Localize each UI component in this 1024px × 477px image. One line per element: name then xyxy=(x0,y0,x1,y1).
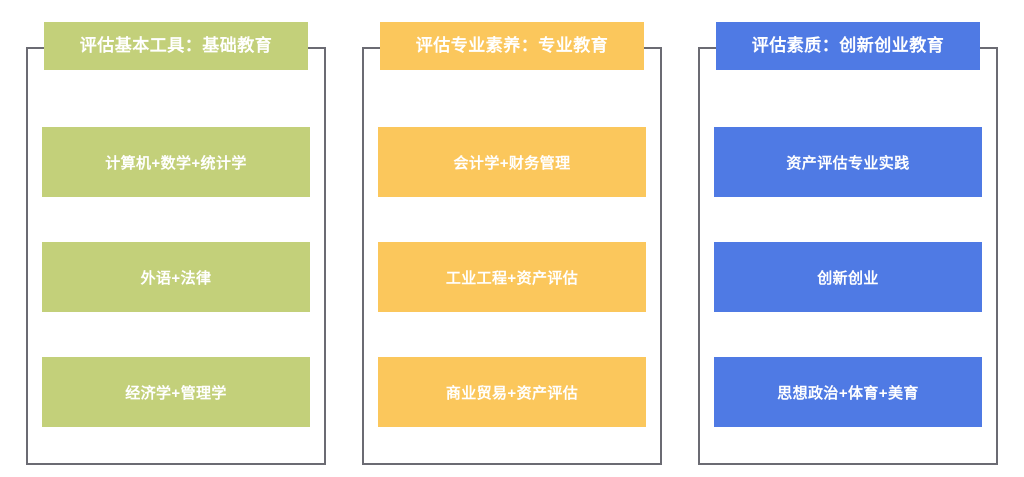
column-header-quality-innovation: 评估素质：创新创业教育 xyxy=(716,22,980,70)
item-box[interactable]: 会计学+财务管理 xyxy=(378,127,646,197)
item-box[interactable]: 资产评估专业实践 xyxy=(714,127,982,197)
column-header-basic-tools: 评估基本工具：基础教育 xyxy=(44,22,308,70)
item-box[interactable]: 思想政治+体育+美育 xyxy=(714,357,982,427)
item-box[interactable]: 外语+法律 xyxy=(42,242,310,312)
item-box[interactable]: 工业工程+资产评估 xyxy=(378,242,646,312)
diagram-canvas: 评估基本工具：基础教育 计算机+数学+统计学 外语+法律 经济学+管理学 评估专… xyxy=(0,0,1024,477)
item-box[interactable]: 经济学+管理学 xyxy=(42,357,310,427)
column-items-quality-innovation: 资产评估专业实践 创新创业 思想政治+体育+美育 xyxy=(698,70,998,466)
column-header-professional-competence: 评估专业素养：专业教育 xyxy=(380,22,644,70)
item-box[interactable]: 商业贸易+资产评估 xyxy=(378,357,646,427)
column-items-basic-tools: 计算机+数学+统计学 外语+法律 经济学+管理学 xyxy=(26,70,326,466)
diagram-column-basic-tools: 评估基本工具：基础教育 计算机+数学+统计学 外语+法律 经济学+管理学 xyxy=(26,22,326,466)
item-box[interactable]: 创新创业 xyxy=(714,242,982,312)
column-items-professional-competence: 会计学+财务管理 工业工程+资产评估 商业贸易+资产评估 xyxy=(362,70,662,466)
item-box[interactable]: 计算机+数学+统计学 xyxy=(42,127,310,197)
diagram-column-quality-innovation: 评估素质：创新创业教育 资产评估专业实践 创新创业 思想政治+体育+美育 xyxy=(698,22,998,466)
diagram-column-professional-competence: 评估专业素养：专业教育 会计学+财务管理 工业工程+资产评估 商业贸易+资产评估 xyxy=(362,22,662,466)
